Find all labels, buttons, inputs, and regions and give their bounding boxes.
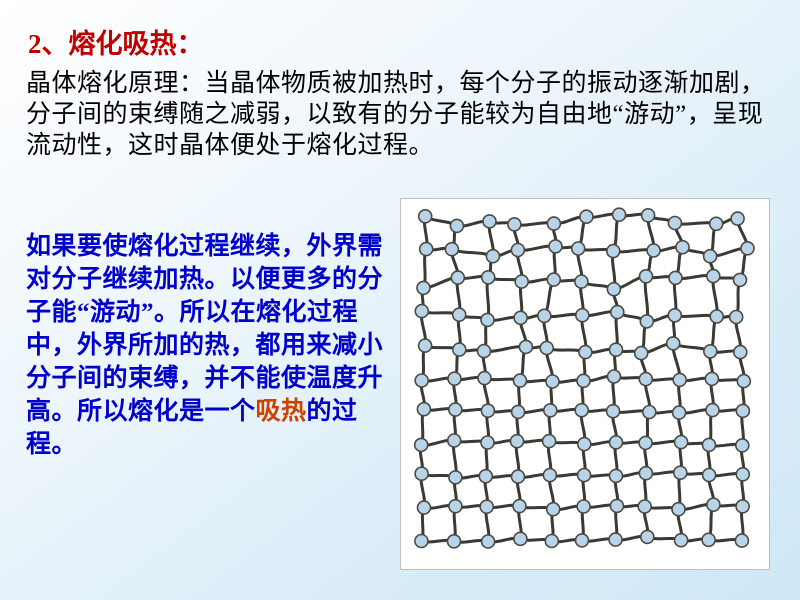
crystal-lattice-figure <box>400 198 770 570</box>
page-title: 2、熔化吸热： <box>28 22 204 61</box>
principle-lead-label: 晶体熔化原理： <box>26 70 205 97</box>
explanation-paragraph: 如果要使熔化过程继续，外界需对分子继续加热。以便更多的分子能“游动”。所以在熔化… <box>26 230 396 461</box>
slide-root: 2、熔化吸热： 晶体熔化原理：当晶体物质被加热时，每个分子的振动逐渐加剧，分子间… <box>0 0 800 600</box>
explanation-text-part1: 如果要使熔化过程继续，外界需对分子继续加热。以便更多的分子能“游动”。所以在熔化… <box>26 233 383 425</box>
crystal-lattice-diagram <box>401 199 769 569</box>
principle-paragraph: 晶体熔化原理：当晶体物质被加热时，每个分子的振动逐渐加剧，分子间的束缚随之减弱，… <box>26 68 786 161</box>
highlight-endothermic: 吸热 <box>256 398 307 425</box>
